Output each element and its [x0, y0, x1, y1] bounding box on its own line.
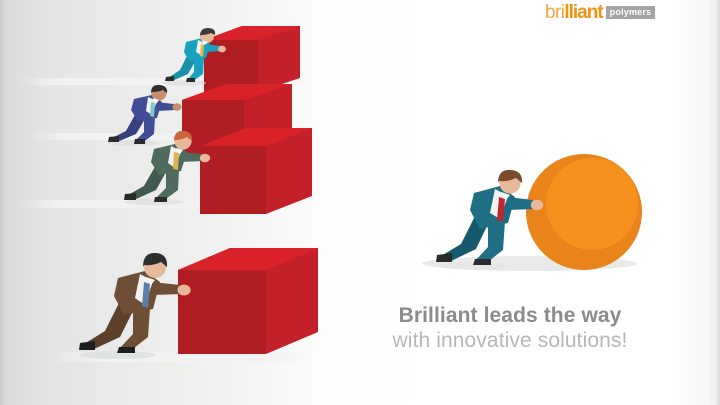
headline-block: Brilliant leads the way with innovative …	[330, 303, 690, 354]
orange-sphere	[526, 154, 642, 270]
logo-word-light: bri	[545, 2, 564, 23]
man-teal	[430, 172, 542, 270]
headline-line-1: Brilliant leads the way	[330, 303, 690, 328]
brand-logo[interactable]: brilliant polymers	[545, 3, 655, 22]
man-green	[118, 132, 214, 206]
man-brown	[72, 255, 192, 360]
logo-wordmark: brilliant	[545, 3, 603, 22]
headline-line-2: with innovative solutions!	[330, 328, 690, 354]
left-scene	[0, 0, 312, 405]
man-cyan	[158, 28, 228, 86]
logo-word-heavy: lliant	[564, 2, 602, 23]
logo-badge-polymers: polymers	[606, 6, 656, 19]
cube-largest	[178, 248, 318, 360]
slide-canvas: brilliant polymers Brilliant leads the w…	[0, 0, 720, 405]
cube-large	[200, 128, 312, 220]
